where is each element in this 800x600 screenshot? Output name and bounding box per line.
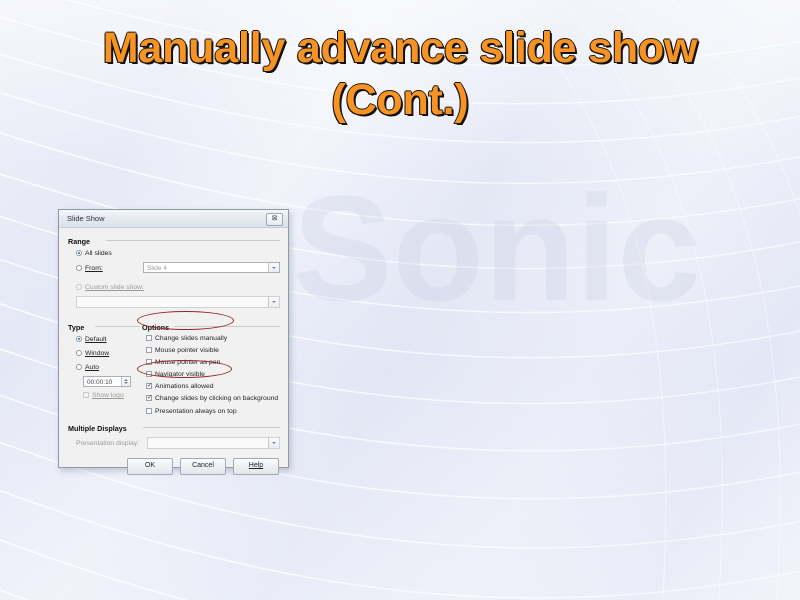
radio-icon-auto — [76, 364, 82, 370]
spinner-arrows-icon[interactable] — [121, 377, 130, 386]
radio-icon-window — [76, 350, 82, 356]
radio-window[interactable]: Window — [76, 350, 109, 357]
radio-default-label: Default — [85, 336, 107, 343]
dialog-titlebar: Slide Show ⊠ — [59, 210, 288, 228]
radio-all-slides[interactable]: All slides — [76, 250, 112, 257]
close-icon[interactable]: ⊠ — [266, 213, 283, 226]
help-button-label: Help — [249, 462, 263, 469]
checkbox-mouse-pointer-visible[interactable]: Mouse pointer visible — [146, 347, 219, 354]
checkbox-change-slides-manually-label: Change slides manually — [155, 335, 227, 342]
radio-custom-slide-show-label: Custom slide show: — [85, 284, 144, 291]
title-line-2: (Cont.) — [0, 74, 800, 126]
radio-from[interactable]: From: — [76, 265, 103, 272]
presentation-display-label: Presentation display: — [76, 440, 139, 447]
chevron-down-icon-custom[interactable] — [268, 297, 279, 307]
type-group-rule — [95, 326, 140, 327]
radio-icon-all-slides — [76, 250, 82, 256]
title-line-1: Manually advance slide show — [0, 22, 800, 74]
checkbox-change-slides-by-clicking-label: Change slides by clicking on background — [155, 395, 278, 402]
checkbox-change-slides-manually[interactable]: Change slides manually — [146, 335, 227, 342]
checkbox-presentation-always-on-top[interactable]: Presentation always on top — [146, 408, 237, 415]
checkbox-show-logo[interactable]: Show logo — [83, 392, 124, 399]
checkbox-icon-presentation-always-on-top — [146, 408, 152, 414]
radio-icon-custom-slide-show — [76, 284, 82, 290]
radio-all-slides-label: All slides — [85, 250, 112, 257]
auto-duration-value: 00:00:10 — [87, 379, 112, 386]
chevron-down-icon-from[interactable] — [268, 263, 279, 272]
range-group-rule — [106, 240, 280, 241]
checkbox-presentation-always-on-top-label: Presentation always on top — [155, 408, 237, 415]
type-group-label: Type — [68, 323, 84, 332]
checkbox-change-slides-by-clicking[interactable]: Change slides by clicking on background — [146, 395, 278, 402]
annotation-oval-change-slides-manually — [137, 311, 234, 330]
multiple-displays-group-label: Multiple Displays — [68, 424, 127, 433]
radio-from-label: From: — [85, 265, 103, 272]
slide-canvas: eSonic Manually advance slide show (Cont… — [0, 0, 800, 600]
annotation-oval-animations-allowed — [137, 360, 232, 378]
from-slide-value: Slide 4 — [147, 265, 167, 272]
auto-duration-stepper[interactable]: 00:00:10 — [83, 376, 131, 387]
ok-button[interactable]: OK — [127, 458, 173, 475]
checkbox-show-logo-label: Show logo — [92, 392, 124, 399]
radio-auto[interactable]: Auto — [76, 364, 99, 371]
checkbox-icon-animations-allowed — [146, 383, 152, 389]
radio-custom-slide-show[interactable]: Custom slide show: — [76, 284, 144, 291]
dialog-title: Slide Show — [67, 214, 105, 223]
checkbox-icon-change-slides-manually — [146, 335, 152, 341]
from-slide-combobox[interactable]: Slide 4 — [143, 262, 280, 273]
radio-icon-from — [76, 265, 82, 271]
slide-show-dialog: Slide Show ⊠ Range All slides From: Slid… — [58, 209, 289, 468]
radio-window-label: Window — [85, 350, 109, 357]
cancel-button[interactable]: Cancel — [180, 458, 226, 475]
radio-default[interactable]: Default — [76, 336, 107, 343]
checkbox-icon-mouse-pointer-visible — [146, 347, 152, 353]
radio-icon-default — [76, 336, 82, 342]
custom-slide-show-combobox[interactable] — [76, 296, 280, 308]
checkbox-mouse-pointer-visible-label: Mouse pointer visible — [155, 347, 219, 354]
multiple-displays-group-rule — [143, 427, 280, 428]
help-button[interactable]: Help — [233, 458, 279, 475]
range-group-label: Range — [68, 237, 90, 246]
page-title: Manually advance slide show (Cont.) — [0, 22, 800, 126]
radio-auto-label: Auto — [85, 364, 99, 371]
chevron-down-icon-display[interactable] — [268, 438, 279, 448]
presentation-display-combobox[interactable] — [147, 437, 280, 449]
checkbox-animations-allowed[interactable]: Animations allowed — [146, 383, 214, 390]
checkbox-icon-change-slides-by-clicking — [146, 395, 152, 401]
checkbox-animations-allowed-label: Animations allowed — [155, 383, 214, 390]
checkbox-icon-show-logo — [83, 392, 89, 398]
